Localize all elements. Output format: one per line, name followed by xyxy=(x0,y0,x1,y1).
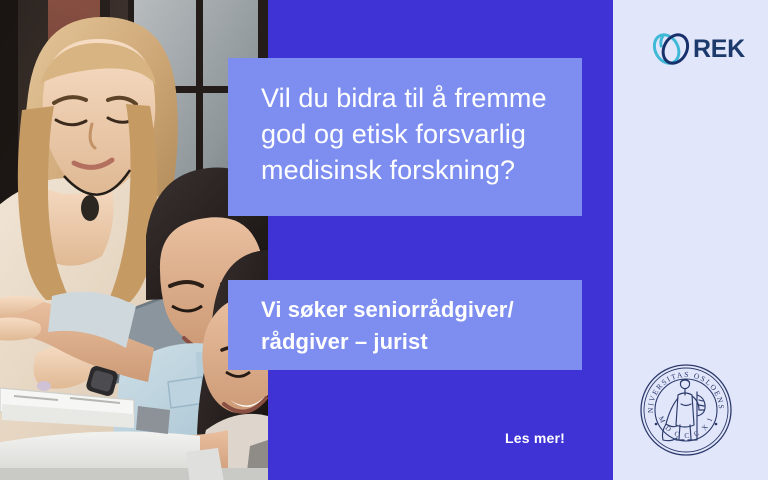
headline-box: Vil du bidra til å fremme god og etisk f… xyxy=(228,58,582,216)
rek-wordmark: REK xyxy=(693,37,745,62)
interlocking-rings-icon xyxy=(650,28,692,70)
headline-text: Vil du bidra til å fremme god og etisk f… xyxy=(261,80,582,188)
read-more-link[interactable]: Les mer! xyxy=(505,430,565,446)
subhead-box: Vi søker seniorrådgiver/ rådgiver – juri… xyxy=(228,280,582,370)
uio-seal[interactable]: UNIVERSITAS OSLOENSIS M D C C C X I xyxy=(638,362,734,458)
rek-logo[interactable]: REK xyxy=(650,26,740,72)
seal-bottom-text: M D C C C X I xyxy=(657,415,715,440)
job-advert-banner: Vil du bidra til å fremme god og etisk f… xyxy=(0,0,768,480)
subhead-text: Vi søker seniorrådgiver/ rådgiver – juri… xyxy=(261,294,582,358)
